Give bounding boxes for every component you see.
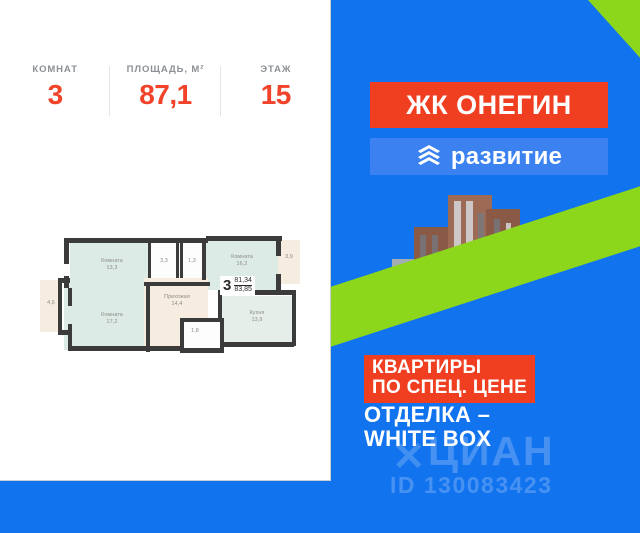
stat-floor-value: 15 [221,79,331,111]
room-label-small-2: 1,3 [182,258,202,265]
area-badge-rooms: 3 [223,278,231,293]
area-badge-total: 83,85 [234,286,252,294]
promo-headline: КВАРТИРЫ ПО СПЕЦ. ЦЕНЕ [364,355,535,403]
stat-floor-label: ЭТАЖ [221,64,331,75]
room-label-small-3: 1,8 [186,328,204,335]
promo-headline-line1: КВАРТИРЫ [372,358,527,378]
room-label-kitchen: Кухня13,9 [230,310,284,323]
stat-rooms-value: 3 [0,79,110,111]
room-label-2: Комната16,2 [214,254,270,267]
floor-plan: Комната13,3 Комната16,2 Комната17,2 Прих… [40,232,300,357]
listing-card: КОМНАТ 3 ПЛОЩАДЬ, М² 87,1 ЭТАЖ 15 [0,0,331,481]
room-label-small-1: 3,3 [152,258,176,265]
room-label-hall: Прихожая14,4 [148,294,206,307]
promo-subtext-line2: WHITE BOX [364,427,491,451]
promo-headline-line2: ПО СПЕЦ. ЦЕНЕ [372,378,527,398]
stat-rooms: КОМНАТ 3 [0,64,110,111]
room-label-3: Комната17,2 [82,312,142,325]
promo-subtext: ОТДЕЛКА – WHITE BOX [364,403,491,451]
screenshot-root: ЖК ОНЕГИН развитие КВАРТИРЫ ПО СПЕЦ. ЦЕН… [0,0,640,533]
project-logo-badge: ЖК ОНЕГИН [370,82,608,128]
balcony-label-right: 3,9 [280,254,298,261]
project-logo-title: ЖК ОНЕГИН [406,90,572,121]
stat-rooms-label: КОМНАТ [0,64,110,75]
promo-panel: ЖК ОНЕГИН развитие КВАРТИРЫ ПО СПЕЦ. ЦЕН… [330,0,640,533]
balcony-label-left: 4,6 [42,300,60,307]
area-badge-living: 81,34 [234,277,252,286]
stats-row: КОМНАТ 3 ПЛОЩАДЬ, М² 87,1 ЭТАЖ 15 [0,64,331,111]
chevron-stack-icon [416,142,442,171]
stat-floor: ЭТАЖ 15 [221,64,331,111]
room-label-1: Комната13,3 [84,258,140,271]
watermark-x-mark: ✕ [392,434,426,480]
stat-area-value: 87,1 [110,79,220,111]
promo-subtext-line1: ОТДЕЛКА – [364,403,491,427]
stat-area: ПЛОЩАДЬ, М² 87,1 [110,64,220,111]
stat-area-label: ПЛОЩАДЬ, М² [110,64,220,75]
developer-logo-badge: развитие [370,138,608,175]
area-badge: 3 81,34 83,85 [220,276,255,295]
area-badge-fraction: 81,34 83,85 [234,277,252,294]
developer-name: развитие [451,143,562,171]
balcony-right [278,240,300,284]
